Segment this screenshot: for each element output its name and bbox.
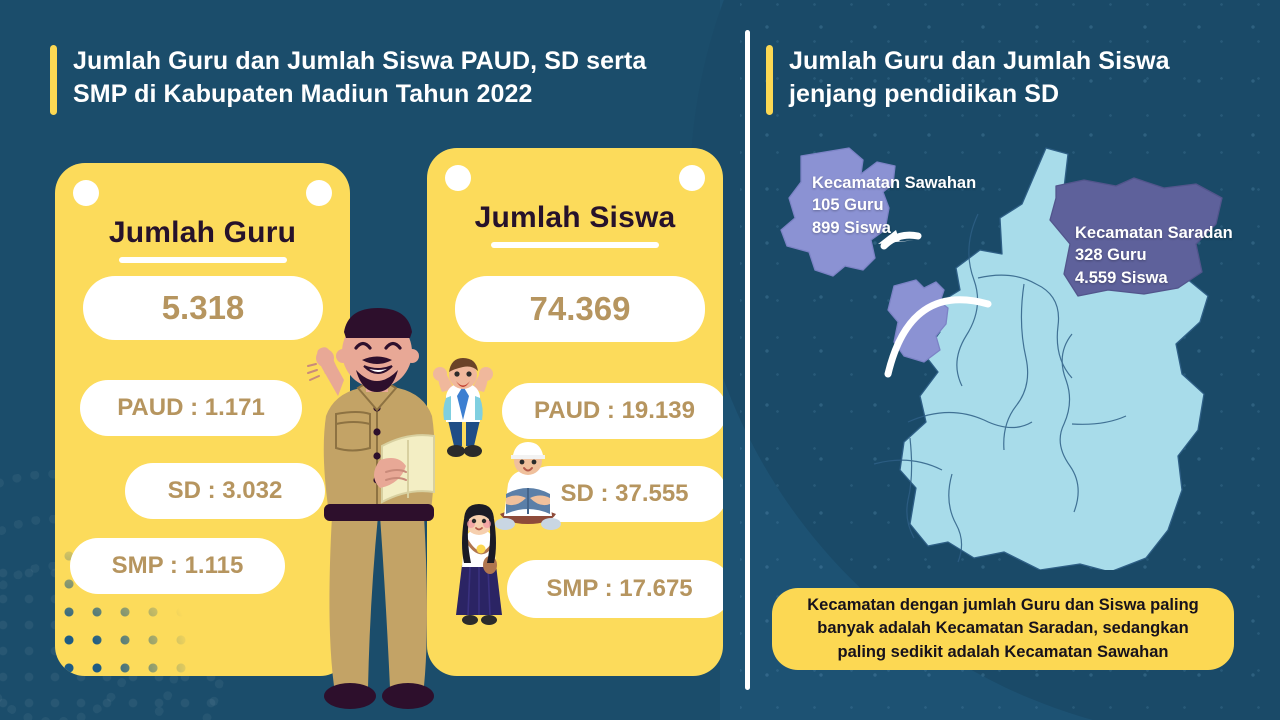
jumlah-siswa-total: 74.369 bbox=[455, 276, 705, 342]
title-accent-bar bbox=[766, 45, 773, 115]
title-accent-bar bbox=[50, 45, 57, 115]
jumlah-guru-paud: PAUD : 1.171 bbox=[80, 380, 302, 436]
right-panel-title: Jumlah Guru dan Jumlah Siswa jenjang pen… bbox=[766, 45, 1236, 115]
title-underline bbox=[119, 257, 287, 263]
title-underline bbox=[491, 242, 659, 248]
jumlah-siswa-title: Jumlah Siswa bbox=[427, 201, 723, 235]
map-label-sawahan: Kecamatan Sawahan 105 Guru 899 Siswa bbox=[812, 172, 976, 239]
vertical-divider bbox=[745, 30, 750, 690]
right-title-text: Jumlah Guru dan Jumlah Siswa jenjang pen… bbox=[789, 45, 1170, 112]
jumlah-guru-smp: SMP : 1.115 bbox=[70, 538, 285, 594]
punch-hole-right-icon bbox=[306, 180, 332, 206]
left-panel-title: Jumlah Guru dan Jumlah Siswa PAUD, SD se… bbox=[50, 45, 730, 115]
jumlah-guru-title: Jumlah Guru bbox=[55, 216, 350, 250]
map-caption-box: Kecamatan dengan jumlah Guru dan Siswa p… bbox=[772, 588, 1234, 670]
punch-hole-left-icon bbox=[445, 165, 471, 191]
punch-hole-left-icon bbox=[73, 180, 99, 206]
map-label-saradan: Kecamatan Saradan 328 Guru 4.559 Siswa bbox=[1075, 222, 1233, 289]
student-cheering-illustration bbox=[428, 358, 498, 462]
jumlah-siswa-smp: SMP : 17.675 bbox=[507, 560, 723, 618]
student-girl-illustration bbox=[448, 503, 510, 631]
infographic-canvas: Jumlah Guru dan Jumlah Siswa PAUD, SD se… bbox=[0, 0, 1280, 720]
jumlah-siswa-paud: PAUD : 19.139 bbox=[502, 383, 723, 439]
left-title-text: Jumlah Guru dan Jumlah Siswa PAUD, SD se… bbox=[73, 45, 646, 112]
punch-hole-right-icon bbox=[679, 165, 705, 191]
